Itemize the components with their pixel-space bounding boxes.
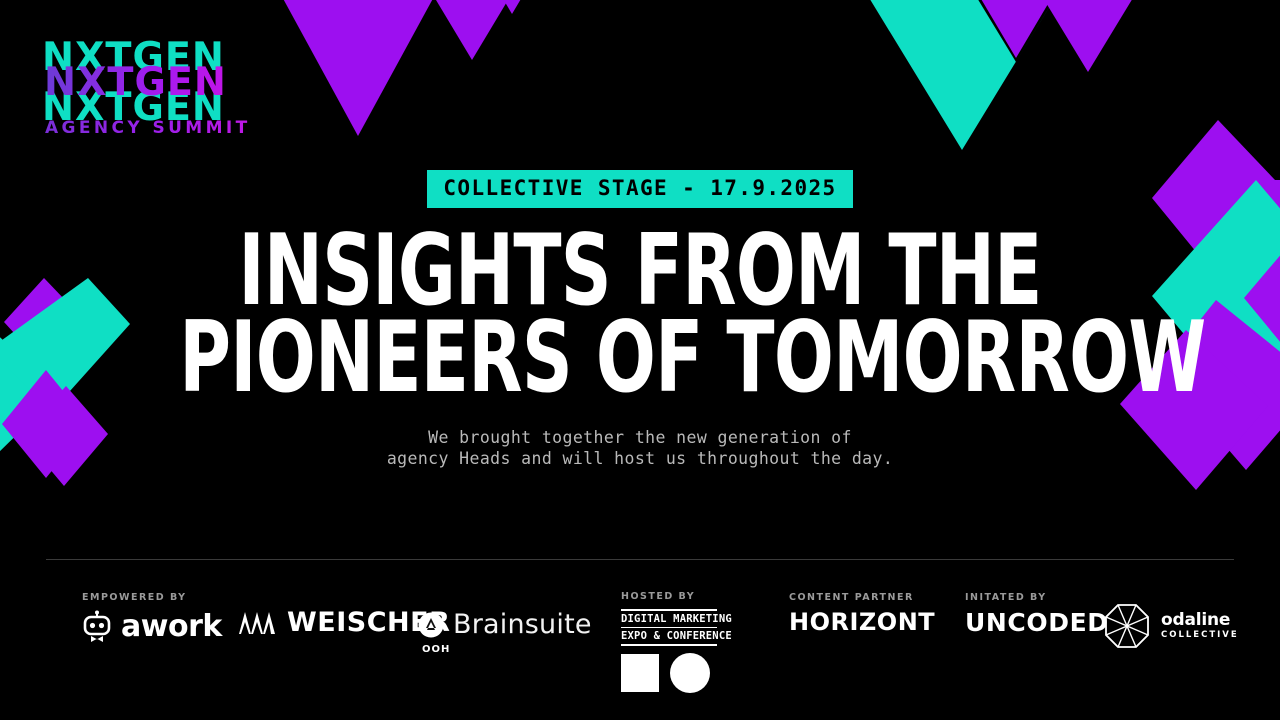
horizont-wordmark: HORIZONT <box>789 610 935 634</box>
partner-label-hosted-by: HOSTED BY <box>621 591 732 602</box>
partner-label-empowered-by: EMPOWERED BY <box>82 592 222 603</box>
partner-dmexco[interactable]: HOSTED BY DIGITAL MARKETING EXPO & CONFE… <box>621 591 732 693</box>
dmexco-line-1: DIGITAL MARKETING <box>621 612 732 626</box>
horizont-logo: HORIZONT <box>789 610 935 634</box>
stage-badge-row: COLLECTIVE STAGE - 17.9.2025 <box>0 170 1280 208</box>
dmexco-circle <box>670 653 710 693</box>
partner-label-initated-by: INITATED BY <box>965 592 1109 603</box>
partner-odaline[interactable]: odaline COLLECTIVE <box>1104 603 1239 649</box>
awork-wordmark: awork <box>121 612 222 642</box>
odaline-wordmark: odaline <box>1161 612 1239 630</box>
partner-uncoded[interactable]: INITATED BY UNCODED <box>965 592 1109 635</box>
uncoded-logo: UNCODED <box>965 610 1109 635</box>
odaline-octagon-icon <box>1104 603 1150 649</box>
purple-chevron-topleft-big <box>262 0 454 136</box>
dmexco-line-2: EXPO & CONFERENCE <box>621 629 732 643</box>
partner-bar: EMPOWERED BY awork WEIS <box>0 585 1280 695</box>
logo-tagline: AGENCY SUMMIT <box>45 120 251 137</box>
uncoded-wordmark: UNCODED <box>965 610 1109 635</box>
partner-label-content-partner: CONTENT PARTNER <box>789 592 935 603</box>
odaline-subtitle: COLLECTIVE <box>1161 630 1239 640</box>
dmexco-rule-bottom <box>621 644 717 646</box>
page-title: INSIGHTS FROM THE PIONEERS OF TOMORROW <box>179 228 1101 402</box>
partner-horizont[interactable]: CONTENT PARTNER HORIZONT <box>789 592 935 634</box>
brainsuite-logo: Brainsuite <box>418 611 592 638</box>
odaline-logo: odaline COLLECTIVE <box>1104 603 1239 649</box>
nxtgen-logo[interactable]: NXTGEN NXTGEN NXTGEN AGENCY SUMMIT <box>42 32 242 144</box>
dmexco-square-circle-icon <box>621 653 732 693</box>
slide-canvas: NXTGEN NXTGEN NXTGEN AGENCY SUMMIT COLLE… <box>0 0 1280 720</box>
footer-divider <box>46 559 1234 560</box>
dmexco-logo: DIGITAL MARKETING EXPO & CONFERENCE <box>621 609 732 693</box>
headline-line-2: PIONEERS OF TOMORROW <box>179 315 1101 402</box>
subtitle-line-2: agency Heads and will host us throughout… <box>0 448 1280 469</box>
zigzag-mark-icon <box>238 610 278 636</box>
partner-awork[interactable]: EMPOWERED BY awork <box>82 592 222 644</box>
robot-icon <box>82 610 112 644</box>
partner-brainsuite[interactable]: Brainsuite <box>418 611 592 638</box>
subtitle-line-1: We brought together the new generation o… <box>0 427 1280 448</box>
odaline-text-block: odaline COLLECTIVE <box>1161 612 1239 640</box>
weischer-subtitle: OOH <box>422 644 450 655</box>
dmexco-rule-top <box>621 609 717 611</box>
brainsuite-circle-icon <box>418 612 444 638</box>
subtitle: We brought together the new generation o… <box>0 427 1280 470</box>
teal-chevron-topright <box>846 0 1078 150</box>
stage-date-badge: COLLECTIVE STAGE - 17.9.2025 <box>427 170 852 208</box>
awork-logo: awork <box>82 610 222 644</box>
dmexco-square <box>621 654 659 692</box>
brainsuite-wordmark: Brainsuite <box>453 611 592 638</box>
dmexco-rule-mid <box>621 627 717 629</box>
logo-wordmark: NXTGEN <box>44 63 227 102</box>
